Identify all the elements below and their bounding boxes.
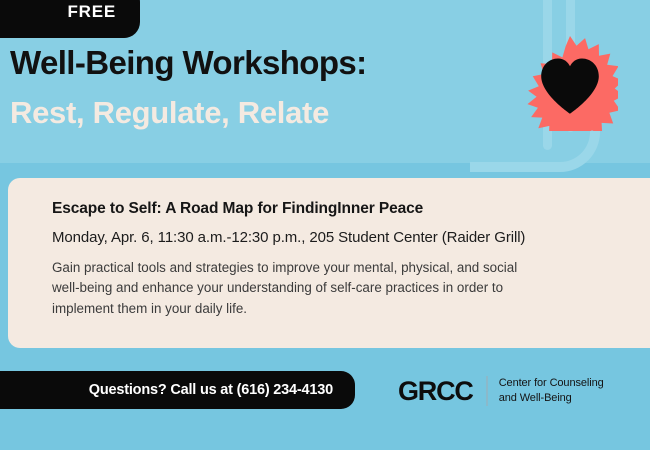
event-datetime-location: Monday, Apr. 6, 11:30 a.m.-12:30 p.m., 2… xyxy=(52,229,650,246)
event-description: Gain practical tools and strategies to i… xyxy=(52,258,650,319)
free-badge: FREE xyxy=(0,0,140,38)
logo-subtitle-line: and Well-Being xyxy=(499,391,604,406)
grcc-logo: GRCC Center for Counseling and Well-Bein… xyxy=(398,372,604,410)
free-badge-label: FREE xyxy=(67,2,116,22)
event-title: Escape to Self: A Road Map for FindingIn… xyxy=(52,200,650,218)
logo-subtitle: Center for Counseling and Well-Being xyxy=(499,376,604,405)
page-title: Well-Being Workshops: xyxy=(10,46,367,81)
event-description-line: well-being and enhance your understandin… xyxy=(52,278,650,298)
starburst-badge xyxy=(522,35,618,131)
contact-pill[interactable]: Questions? Call us at (616) 234-4130 xyxy=(0,371,355,409)
event-card: Escape to Self: A Road Map for FindingIn… xyxy=(8,178,650,348)
logo-divider xyxy=(486,376,488,406)
contact-phone-label: Questions? Call us at (616) 234-4130 xyxy=(89,382,333,398)
page-subtitle: Rest, Regulate, Relate xyxy=(10,97,329,130)
event-description-line: Gain practical tools and strategies to i… xyxy=(52,258,650,278)
logo-subtitle-line: Center for Counseling xyxy=(499,376,604,391)
grcc-wordmark: GRCC xyxy=(398,376,473,407)
flyer-canvas: FREE Well-Being Workshops: Rest, Regulat… xyxy=(0,0,650,450)
event-description-line: implement them in your daily life. xyxy=(52,299,650,319)
